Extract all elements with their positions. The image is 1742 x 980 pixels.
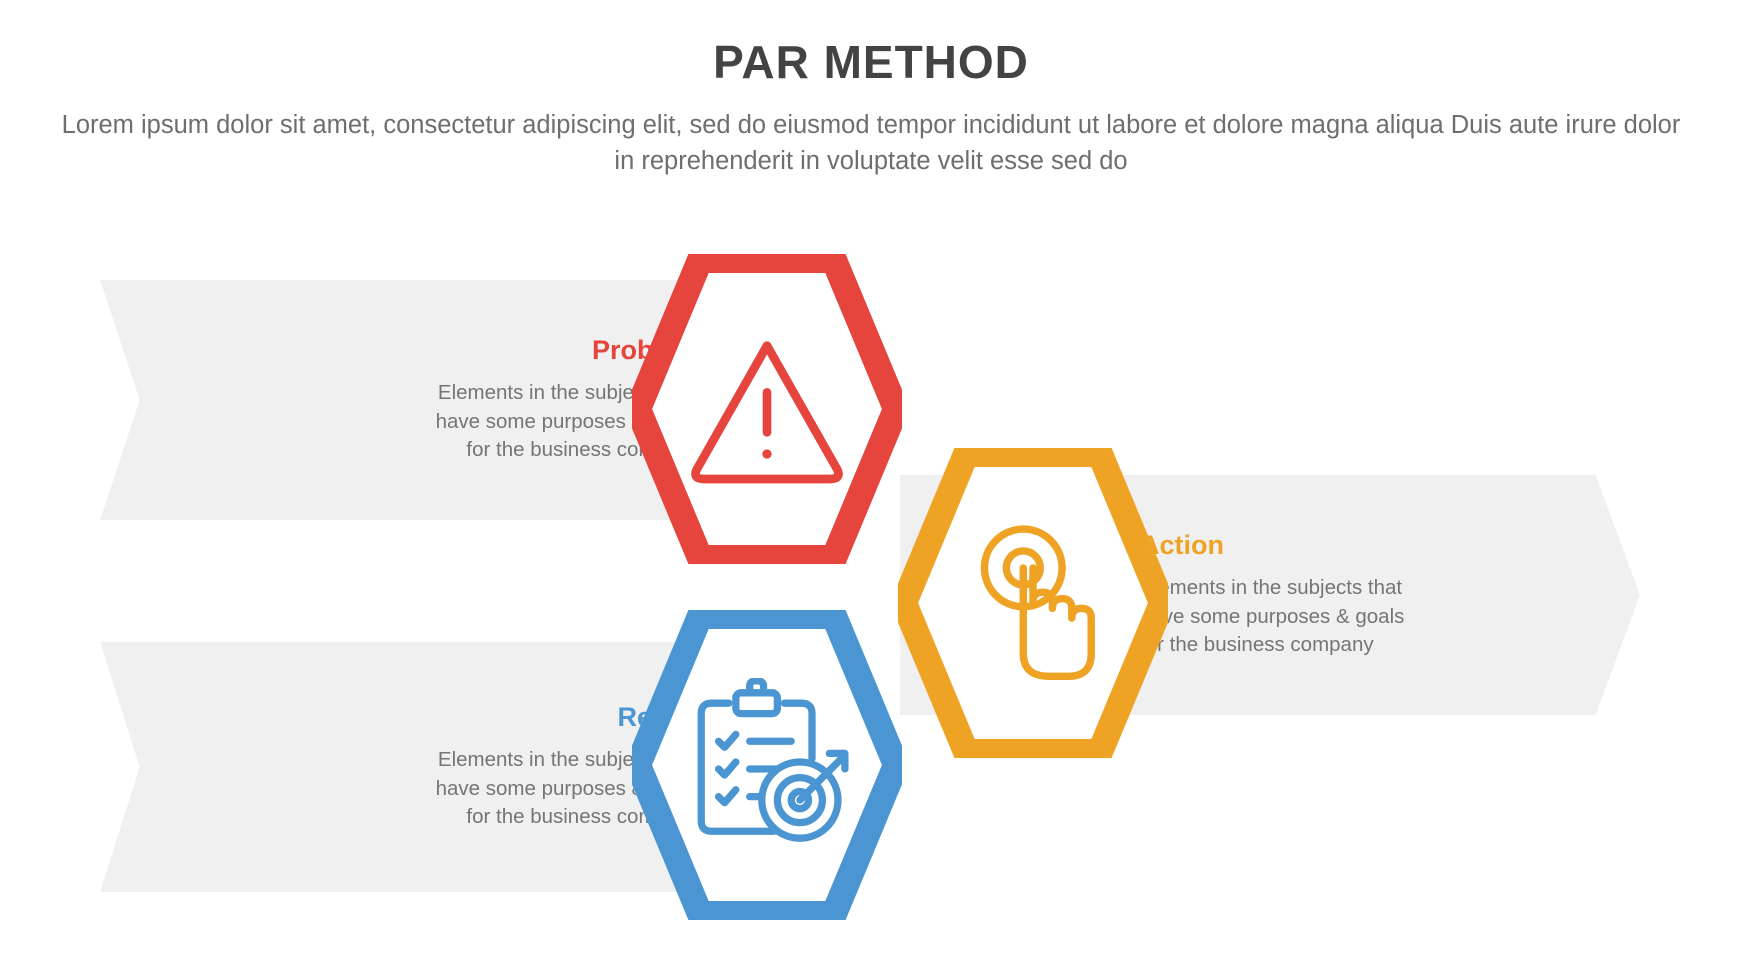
action-text-block: Action Elements in the subjects that hav… xyxy=(1140,475,1700,715)
page-subtitle: Lorem ipsum dolor sit amet, consectetur … xyxy=(61,107,1681,179)
result-text-block: Result Elements in the subjects that hav… xyxy=(100,642,700,892)
par-method-diagram: Problem Elements in the subjects that ha… xyxy=(0,270,1742,910)
problem-text-block: Problem Elements in the subjects that ha… xyxy=(100,280,700,520)
clipboard-target-icon xyxy=(632,610,902,920)
header: PAR METHOD Lorem ipsum dolor sit amet, c… xyxy=(0,36,1742,179)
infographic-page: PAR METHOD Lorem ipsum dolor sit amet, c… xyxy=(0,0,1742,980)
action-description: Elements in the subjects that have some … xyxy=(1140,574,1404,659)
warning-triangle-icon xyxy=(632,254,902,564)
click-hand-icon xyxy=(898,448,1168,758)
page-title: PAR METHOD xyxy=(0,36,1742,89)
